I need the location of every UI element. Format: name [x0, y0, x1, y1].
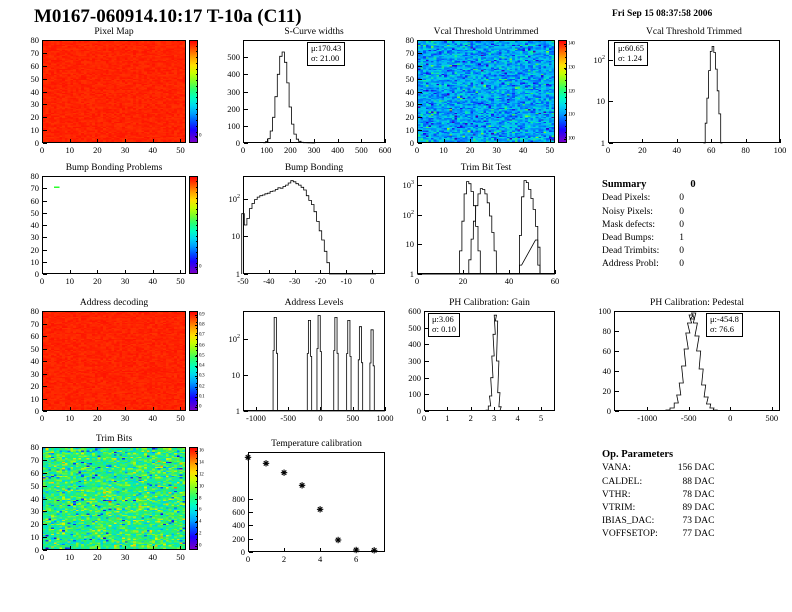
- s-curve-widths-ytick: [244, 109, 248, 110]
- trim-bits-xtick: [125, 546, 126, 550]
- s-curve-widths-ytick: [244, 143, 248, 144]
- ph-calibration-gain-xtick: [518, 407, 519, 411]
- vcal-threshold-trimmed-ytick-label: 1: [601, 138, 605, 148]
- bump-bonding-problems-colorbar-minor-tick: [196, 214, 198, 215]
- ph-calibration-pedestal-ytick-label: 80: [603, 326, 612, 336]
- bump-bonding-title: Bump Bonding: [243, 163, 385, 173]
- trim-bit-test-xtick-label: 40: [505, 276, 514, 286]
- vcal-threshold-untrimmed-xtick: [444, 139, 445, 143]
- temperature-calibration-ytick: [249, 552, 253, 553]
- s-curve-widths-xtick: [361, 139, 362, 143]
- ph-calibration-pedestal-plot-frame: [614, 311, 780, 411]
- trim-bits-ytick-label: 20: [31, 519, 40, 529]
- bump-bonding-xtick-label: -10: [341, 276, 352, 286]
- ph-calibration-gain-xtick-label: 3: [492, 413, 496, 423]
- bump-bonding-xtick-label: -40: [263, 276, 274, 286]
- vcal-threshold-untrimmed-colorbar-label: 120: [568, 89, 575, 94]
- pixel-map-ytick: [43, 143, 47, 144]
- trim-bits-xtick: [70, 546, 71, 550]
- ph-calibration-gain-xtick: [471, 407, 472, 411]
- address-decoding-xtick: [70, 407, 71, 411]
- s-curve-widths-ytick: [244, 92, 248, 93]
- bump-bonding-problems-colorbar-minor-tick: [196, 192, 198, 193]
- bump-bonding-problems-xtick-label: 50: [176, 276, 185, 286]
- ph-calibration-gain-stats-sigma: σ: 0.10: [432, 325, 456, 335]
- trim-bits-xtick-label: 50: [176, 552, 185, 562]
- address-decoding-colorbar-label: 0.7: [199, 333, 204, 338]
- trim-bits-colorbar-minor-tick: [196, 516, 198, 517]
- vcal-threshold-trimmed-ytick-label: 102: [594, 55, 606, 65]
- trim-bits-colorbar-minor-tick: [196, 533, 198, 534]
- vcal-threshold-untrimmed-colorbar-minor-tick: [565, 97, 567, 98]
- summary-row: Mask defects:0: [602, 219, 684, 232]
- address-decoding-xtick: [97, 407, 98, 411]
- summary-label: Address Probl:: [602, 258, 679, 271]
- bump-bonding-xtick: [372, 270, 373, 274]
- pixel-map-colorbar-minor-tick: [196, 120, 198, 121]
- summary-row: Address Probl:0: [602, 258, 684, 271]
- ph-calibration-gain-ytick-label: 200: [408, 373, 421, 383]
- bump-bonding-problems-xtick: [125, 270, 126, 274]
- bump-bonding-problems-ytick-label: 20: [31, 245, 40, 255]
- trim-bit-test-xtick-label: 0: [415, 276, 419, 286]
- address-decoding-ytick: [43, 361, 47, 362]
- bump-bonding-xtick: [295, 270, 296, 274]
- vcal-threshold-untrimmed-colorbar-minor-tick: [565, 126, 567, 127]
- trim-bit-test-title: Trim Bit Test: [417, 163, 555, 173]
- vcal-threshold-untrimmed-ytick: [418, 130, 422, 131]
- vcal-threshold-untrimmed-ytick-label: 70: [406, 48, 415, 58]
- address-decoding-ytick: [43, 324, 47, 325]
- bump-bonding-problems-ytick: [43, 213, 47, 214]
- bump-bonding-problems-colorbar-label: 0: [199, 265, 201, 270]
- bump-bonding-xtick: [346, 270, 347, 274]
- op-parameter-value: 88 DAC: [678, 476, 715, 489]
- trim-bits-colorbar-label: 4: [199, 520, 201, 525]
- vcal-threshold-trimmed-xtick: [677, 139, 678, 143]
- trim-bit-test-plot-frame: [417, 176, 555, 274]
- vcal-threshold-untrimmed-ytick-label: 10: [406, 125, 415, 135]
- ph-calibration-gain-ytick-label: 0: [417, 406, 421, 416]
- bump-bonding-xtick-label: -30: [289, 276, 300, 286]
- bump-bonding-problems-xtick: [153, 270, 154, 274]
- bump-bonding-problems-ytick-label: 50: [31, 208, 40, 218]
- op-parameter-row: CALDEL:88 DAC: [602, 476, 714, 489]
- trim-bits-colorbar-tick: [195, 546, 198, 547]
- bump-bonding-problems-ytick-label: 70: [31, 183, 40, 193]
- pixel-map-ytick: [43, 40, 47, 41]
- pixel-map-ytick-label: 20: [31, 112, 40, 122]
- address-decoding-ytick-label: 50: [31, 344, 40, 354]
- bump-bonding-problems-ytick-label: 60: [31, 196, 40, 206]
- s-curve-widths-ytick-label: 200: [227, 104, 240, 114]
- address-decoding-ytick: [43, 349, 47, 350]
- bump-bonding-problems-ytick-label: 10: [31, 257, 40, 267]
- trim-bits-colorbar-minor-tick: [196, 487, 198, 488]
- pixel-map-xtick-label: 30: [121, 145, 130, 155]
- address-decoding-xtick-label: 10: [65, 413, 74, 423]
- s-curve-widths-ytick-label: 0: [236, 138, 240, 148]
- pixel-map-xtick-label: 50: [176, 145, 185, 155]
- vcal-threshold-trimmed-ytick: [609, 143, 613, 144]
- trim-bits-ytick: [43, 460, 47, 461]
- pixel-map-colorbar-minor-tick: [196, 86, 198, 87]
- trim-bits-colorbar-minor-tick: [196, 493, 198, 494]
- ph-calibration-gain-ytick: [425, 394, 429, 395]
- vcal-threshold-untrimmed-colorbar-tick: [564, 139, 567, 140]
- address-decoding-xtick-label: 50: [176, 413, 185, 423]
- address-levels-ytick: [244, 411, 248, 412]
- vcal-threshold-untrimmed-colorbar-minor-tick: [565, 69, 567, 70]
- bump-bonding-problems-xtick-label: 40: [149, 276, 158, 286]
- trim-bits-colorbar-minor-tick: [196, 453, 198, 454]
- vcal-threshold-untrimmed-colorbar-minor-tick: [565, 86, 567, 87]
- date-stamp: Fri Sep 15 08:37:58 2006: [612, 9, 712, 19]
- trim-bits-colorbar-minor-tick: [196, 504, 198, 505]
- s-curve-widths-xtick-label: 100: [260, 145, 273, 155]
- bump-bonding-plot-frame: [243, 176, 385, 274]
- address-decoding-ytick: [43, 399, 47, 400]
- pixel-map-xtick: [70, 139, 71, 143]
- bump-bonding-problems-xtick: [97, 270, 98, 274]
- pixel-map-colorbar-minor-tick: [196, 74, 198, 75]
- trim-bit-test-ytick: [418, 274, 422, 275]
- summary-row: Dead Pixels:0: [602, 192, 684, 205]
- trim-bit-test-xtick-label: 20: [459, 276, 468, 286]
- address-levels-ytick: [244, 375, 248, 376]
- address-decoding-colorbar-minor-tick: [196, 383, 198, 384]
- address-decoding-colorbar-label: 0.5: [199, 353, 204, 358]
- address-decoding-xtick-label: 30: [121, 413, 130, 423]
- trim-bits-colorbar-tick: [195, 534, 198, 535]
- address-decoding-colorbar-minor-tick: [196, 317, 198, 318]
- address-decoding-ytick-label: 70: [31, 319, 40, 329]
- pixel-map-xtick: [97, 139, 98, 143]
- bump-bonding-ytick-label: 1: [236, 269, 240, 279]
- trim-bits-colorbar-minor-tick: [196, 539, 198, 540]
- bump-bonding-ytick: [244, 199, 248, 200]
- trim-bits-ytick-label: 40: [31, 494, 40, 504]
- pixel-map-colorbar-minor-tick: [196, 51, 198, 52]
- trim-bits-colorbar-label: 12: [199, 472, 203, 477]
- trim-bits-colorbar-label: 10: [199, 484, 203, 489]
- pixel-map-ytick-label: 10: [31, 125, 40, 135]
- vcal-threshold-untrimmed-xtick-label: 0: [415, 145, 419, 155]
- pixel-map-colorbar-minor-tick: [196, 92, 198, 93]
- trim-bits-ytick: [43, 511, 47, 512]
- pixel-map-ytick: [43, 92, 47, 93]
- vcal-threshold-untrimmed-xtick-label: 20: [466, 145, 475, 155]
- page-title: M0167-060914.10:17 T-10a (C11): [34, 6, 302, 28]
- pixel-map-heatmap: [43, 41, 185, 142]
- ph-calibration-pedestal-xtick: [647, 407, 648, 411]
- trim-bits-colorbar-minor-tick: [196, 458, 198, 459]
- trim-bits-ytick: [43, 550, 47, 551]
- op-parameter-value: 156 DAC: [678, 462, 715, 475]
- op-parameter-value: 77 DAC: [678, 528, 715, 541]
- pixel-map-xtick: [153, 139, 154, 143]
- vcal-threshold-untrimmed-colorbar-minor-tick: [565, 63, 567, 64]
- bump-bonding-problems-ytick: [43, 188, 47, 189]
- trim-bits-colorbar-label: 8: [199, 496, 201, 501]
- vcal-threshold-trimmed-xtick-label: 40: [673, 145, 682, 155]
- summary-row: Noisy Pixels:0: [602, 206, 684, 219]
- vcal-threshold-untrimmed-ytick: [418, 66, 422, 67]
- pixel-map-colorbar-minor-tick: [196, 137, 198, 138]
- trim-bits-ytick-label: 70: [31, 455, 40, 465]
- address-decoding-colorbar-minor-tick: [196, 367, 198, 368]
- vcal-threshold-untrimmed-ytick-label: 40: [406, 87, 415, 97]
- vcal-threshold-untrimmed-colorbar-label: 130: [568, 65, 575, 70]
- bump-bonding-ytick-label: 10: [232, 231, 241, 241]
- vcal-threshold-untrimmed-ytick-label: 60: [406, 61, 415, 71]
- vcal-threshold-untrimmed-xtick: [523, 139, 524, 143]
- bump-bonding-problems-colorbar-minor-tick: [196, 258, 198, 259]
- temperature-calibration-ytick: [249, 512, 253, 513]
- address-decoding-xtick: [180, 407, 181, 411]
- trim-bits-xtick: [97, 546, 98, 550]
- ph-calibration-pedestal-xtick-label: -1000: [637, 413, 657, 423]
- vcal-threshold-untrimmed-colorbar-label: 110: [568, 113, 574, 118]
- bump-bonding-problems-ytick: [43, 262, 47, 263]
- bump-bonding-problems-colorbar-minor-tick: [196, 252, 198, 253]
- pixel-map-ytick: [43, 53, 47, 54]
- trim-bits-ytick: [43, 447, 47, 448]
- address-decoding-xtick: [125, 407, 126, 411]
- vcal-threshold-trimmed-xtick: [642, 139, 643, 143]
- s-curve-widths-title: S-Curve widths: [243, 27, 385, 37]
- op-parameters-heading: Op. Parameters: [602, 448, 714, 462]
- address-decoding-colorbar-minor-tick: [196, 361, 198, 362]
- bump-bonding-problems-ytick: [43, 176, 47, 177]
- pixel-map-xtick: [125, 139, 126, 143]
- address-levels-xtick: [256, 407, 257, 411]
- vcal-threshold-trimmed-ytick-label: 10: [597, 96, 606, 106]
- bump-bonding-problems-colorbar-minor-tick: [196, 269, 198, 270]
- pixel-map-xtick-label: 20: [93, 145, 102, 155]
- address-decoding-colorbar-label: 0.3: [199, 374, 204, 379]
- bump-bonding-problems-colorbar-minor-tick: [196, 247, 198, 248]
- address-decoding-ytick-label: 30: [31, 369, 40, 379]
- pixel-map-colorbar-minor-tick: [196, 63, 198, 64]
- ph-calibration-pedestal-xtick-label: 500: [765, 413, 778, 423]
- temperature-calibration-xtick-label: 2: [282, 554, 286, 564]
- ph-calibration-pedestal-ytick: [615, 411, 619, 412]
- temperature-calibration-xtick: [284, 548, 285, 552]
- address-levels-xtick-label: -500: [280, 413, 296, 423]
- address-decoding-colorbar-minor-tick: [196, 400, 198, 401]
- bump-bonding-problems-xtick-label: 30: [121, 276, 130, 286]
- vcal-threshold-trimmed-xtick-label: 0: [606, 145, 610, 155]
- address-decoding-ytick-label: 80: [31, 306, 40, 316]
- summary-label: Dead Bumps:: [602, 232, 679, 245]
- pixel-map-title: Pixel Map: [42, 27, 186, 37]
- s-curve-widths-ytick: [244, 126, 248, 127]
- pixel-map-ytick: [43, 104, 47, 105]
- op-parameter-label: CALDEL:: [602, 476, 678, 489]
- trim-bits-ytick: [43, 486, 47, 487]
- address-decoding-colorbar-tick: [195, 397, 198, 398]
- ph-calibration-pedestal-ytick-label: 0: [607, 406, 611, 416]
- trim-bits-colorbar-label: 2: [199, 532, 201, 537]
- vcal-threshold-untrimmed-xtick-label: 10: [439, 145, 448, 155]
- vcal-threshold-untrimmed-ytick: [418, 53, 422, 54]
- address-decoding-ytick-label: 20: [31, 381, 40, 391]
- vcal-threshold-trimmed-xtick-label: 100: [774, 145, 787, 155]
- vcal-threshold-untrimmed-ytick-label: 30: [406, 99, 415, 109]
- address-levels-xtick: [385, 407, 386, 411]
- summary-label: Dead Trimbits:: [602, 245, 679, 258]
- s-curve-widths-xtick: [385, 139, 386, 143]
- ph-calibration-gain-xtick-label: 5: [539, 413, 543, 423]
- vcal-threshold-untrimmed-xtick-label: 50: [545, 145, 554, 155]
- s-curve-widths-xtick-label: 0: [241, 145, 245, 155]
- ph-calibration-pedestal-ytick-label: 20: [603, 386, 612, 396]
- ph-calibration-pedestal-xtick: [772, 407, 773, 411]
- s-curve-widths-ytick: [244, 57, 248, 58]
- temperature-calibration-ytick: [249, 499, 253, 500]
- ph-calibration-gain-ytick: [425, 311, 429, 312]
- bump-bonding-problems-colorbar-minor-tick: [196, 203, 198, 204]
- vcal-threshold-untrimmed-colorbar-minor-tick: [565, 51, 567, 52]
- op-parameter-row: VTRIM:89 DAC: [602, 502, 714, 515]
- trim-bits-xtick-label: 0: [40, 552, 44, 562]
- address-decoding-xtick-label: 20: [93, 413, 102, 423]
- op-parameter-row: VANA:156 DAC: [602, 462, 714, 475]
- summary-value: 0: [679, 219, 684, 232]
- vcal-threshold-untrimmed-ytick-label: 0: [410, 138, 414, 148]
- trim-bit-test-ytick: [418, 185, 422, 186]
- address-decoding-ytick: [43, 386, 47, 387]
- vcal-threshold-untrimmed-colorbar-minor-tick: [565, 132, 567, 133]
- address-decoding-colorbar-label: 0.6: [199, 343, 204, 348]
- bump-bonding-xtick: [320, 270, 321, 274]
- pixel-map-colorbar-minor-tick: [196, 114, 198, 115]
- trim-bit-test-ytick: [418, 215, 422, 216]
- vcal-threshold-untrimmed-ytick-label: 50: [406, 74, 415, 84]
- summary-heading-value: 0: [690, 178, 695, 192]
- vcal-threshold-untrimmed-ytick: [418, 104, 422, 105]
- address-decoding-colorbar-tick: [195, 325, 198, 326]
- ph-calibration-gain-ytick: [425, 378, 429, 379]
- bump-bonding-xtick: [269, 270, 270, 274]
- bump-bonding-problems-ytick-label: 80: [31, 171, 40, 181]
- trim-bit-test-ytick-label: 1: [410, 269, 414, 279]
- s-curve-widths-ytick-label: 100: [227, 121, 240, 131]
- address-decoding-colorbar-minor-tick: [196, 333, 198, 334]
- pixel-map-ytick-label: 30: [31, 99, 40, 109]
- ph-calibration-gain-xtick: [541, 407, 542, 411]
- s-curve-widths-xtick-label: 300: [308, 145, 321, 155]
- s-curve-widths-xtick: [290, 139, 291, 143]
- address-decoding-ytick-label: 60: [31, 331, 40, 341]
- pixel-map-ytick-label: 80: [31, 35, 40, 45]
- temperature-calibration-xtick-label: 0: [246, 554, 250, 564]
- ph-calibration-pedestal-xtick: [730, 407, 731, 411]
- op-parameter-value: 89 DAC: [678, 502, 715, 515]
- ph-calibration-gain-ytick-label: 500: [408, 323, 421, 333]
- bump-bonding-problems-colorbar-minor-tick: [196, 187, 198, 188]
- pixel-map-ytick: [43, 66, 47, 67]
- vcal-threshold-untrimmed-colorbar-minor-tick: [565, 120, 567, 121]
- ph-calibration-gain-ytick-label: 100: [408, 389, 421, 399]
- summary-table: Dead Pixels:0Noisy Pixels:0Mask defects:…: [602, 192, 684, 271]
- vcal-threshold-trimmed-xtick-label: 20: [638, 145, 647, 155]
- ph-calibration-gain-ytick-label: 400: [408, 339, 421, 349]
- temperature-calibration-xtick-label: 6: [354, 554, 358, 564]
- s-curve-widths-xtick: [338, 139, 339, 143]
- bump-bonding-problems-xtick-label: 10: [65, 276, 74, 286]
- ph-calibration-gain-stats-box: μ:3.06σ: 0.10: [428, 313, 460, 337]
- address-decoding-colorbar-minor-tick: [196, 322, 198, 323]
- address-decoding-colorbar-minor-tick: [196, 328, 198, 329]
- trim-bits-colorbar-minor-tick: [196, 544, 198, 545]
- temperature-calibration-xtick: [320, 548, 321, 552]
- s-curve-widths-xtick-label: 600: [379, 145, 392, 155]
- address-decoding-colorbar-minor-tick: [196, 344, 198, 345]
- summary-value: 0: [679, 245, 684, 258]
- trim-bits-ytick: [43, 499, 47, 500]
- trim-bits-colorbar-label: 6: [199, 508, 201, 513]
- summary-heading: Summary: [602, 178, 646, 192]
- pixel-map-colorbar-minor-tick: [196, 103, 198, 104]
- address-decoding-colorbar-label: 0.4: [199, 364, 204, 369]
- vcal-threshold-trimmed-stats-box: μ:60.65σ: 1.24: [614, 42, 648, 66]
- vcal-threshold-untrimmed-title: Vcal Threshold Untrimmed: [417, 27, 555, 37]
- summary-label: Noisy Pixels:: [602, 206, 679, 219]
- trim-bits-colorbar-minor-tick: [196, 499, 198, 500]
- pixel-map-colorbar-minor-tick: [196, 57, 198, 58]
- vcal-threshold-untrimmed-ytick: [418, 40, 422, 41]
- address-decoding-colorbar-label: 0.9: [199, 313, 204, 318]
- pixel-map-colorbar-minor-tick: [196, 46, 198, 47]
- trim-bits-ytick-label: 50: [31, 481, 40, 491]
- s-curve-widths-ytick: [244, 74, 248, 75]
- vcal-threshold-trimmed-ytick: [609, 101, 613, 102]
- temperature-calibration-plot-frame: [248, 452, 385, 552]
- trim-bits-xtick-label: 20: [93, 552, 102, 562]
- address-decoding-colorbar-tick: [195, 407, 198, 408]
- address-decoding-colorbar-minor-tick: [196, 355, 198, 356]
- temperature-calibration-title: Temperature calibration: [248, 439, 385, 449]
- address-decoding-colorbar-tick: [195, 387, 198, 388]
- trim-bit-test-ytick: [418, 244, 422, 245]
- summary-value: 0: [679, 258, 684, 271]
- trim-bit-test-ytick-label: 103: [403, 180, 415, 190]
- op-parameter-row: VTHR:78 DAC: [602, 489, 714, 502]
- op-parameters-table: VANA:156 DACCALDEL:88 DACVTHR:78 DACVTRI…: [602, 462, 714, 541]
- bump-bonding-problems-heatmap: [43, 177, 185, 273]
- summary-row: Dead Trimbits:0: [602, 245, 684, 258]
- s-curve-widths-xtick-label: 400: [331, 145, 344, 155]
- vcal-threshold-untrimmed-xtick: [497, 139, 498, 143]
- vcal-threshold-trimmed-title: Vcal Threshold Trimmed: [608, 27, 780, 37]
- ph-calibration-gain-ytick: [425, 411, 429, 412]
- bump-bonding-problems-ytick-label: 40: [31, 220, 40, 230]
- ph-calibration-pedestal-ytick: [615, 371, 619, 372]
- address-decoding-colorbar-label: 0.1: [199, 394, 204, 399]
- pixel-map-xtick-label: 40: [149, 145, 158, 155]
- bump-bonding-problems-colorbar-minor-tick: [196, 230, 198, 231]
- ph-calibration-gain-xtick-label: 0: [422, 413, 426, 423]
- address-decoding-colorbar-minor-tick: [196, 350, 198, 351]
- trim-bits-heatmap: [43, 448, 185, 549]
- address-decoding-xtick: [153, 407, 154, 411]
- trim-bits-xtick-label: 30: [121, 552, 130, 562]
- bump-bonding-problems-colorbar-minor-tick: [196, 225, 198, 226]
- s-curve-widths-xtick-label: 500: [355, 145, 368, 155]
- ph-calibration-pedestal-xtick-label: 0: [728, 413, 732, 423]
